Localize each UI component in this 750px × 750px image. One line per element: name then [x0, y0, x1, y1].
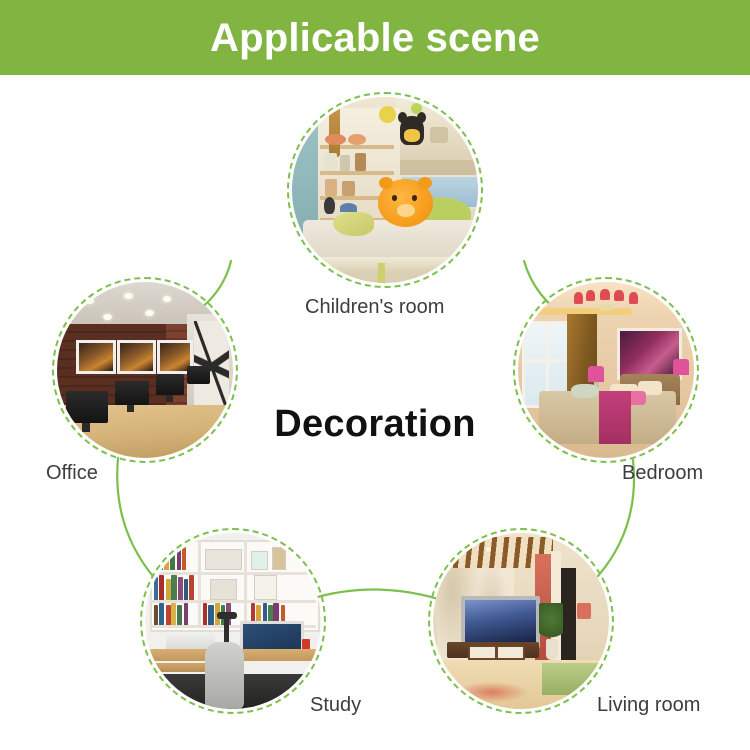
scene-node-childrens-room[interactable]: [292, 97, 478, 283]
childrens-room-photo: [292, 97, 478, 283]
diagram-center-label: Decoration: [0, 405, 750, 443]
scene-label-bedroom: Bedroom: [622, 463, 703, 483]
scene-label-study: Study: [310, 695, 361, 715]
scene-label-office: Office: [46, 463, 98, 483]
study-photo: [145, 533, 321, 709]
scene-diagram: Children's room Office: [0, 75, 750, 750]
living-room-photo: [433, 533, 609, 709]
scene-label-living-room: Living room: [597, 695, 700, 715]
scene-node-study[interactable]: [145, 533, 321, 709]
scene-label-childrens-room: Children's room: [305, 297, 444, 317]
page-title: Applicable scene: [210, 18, 540, 58]
scene-node-living-room[interactable]: [433, 533, 609, 709]
header-band: Applicable scene: [0, 0, 750, 75]
